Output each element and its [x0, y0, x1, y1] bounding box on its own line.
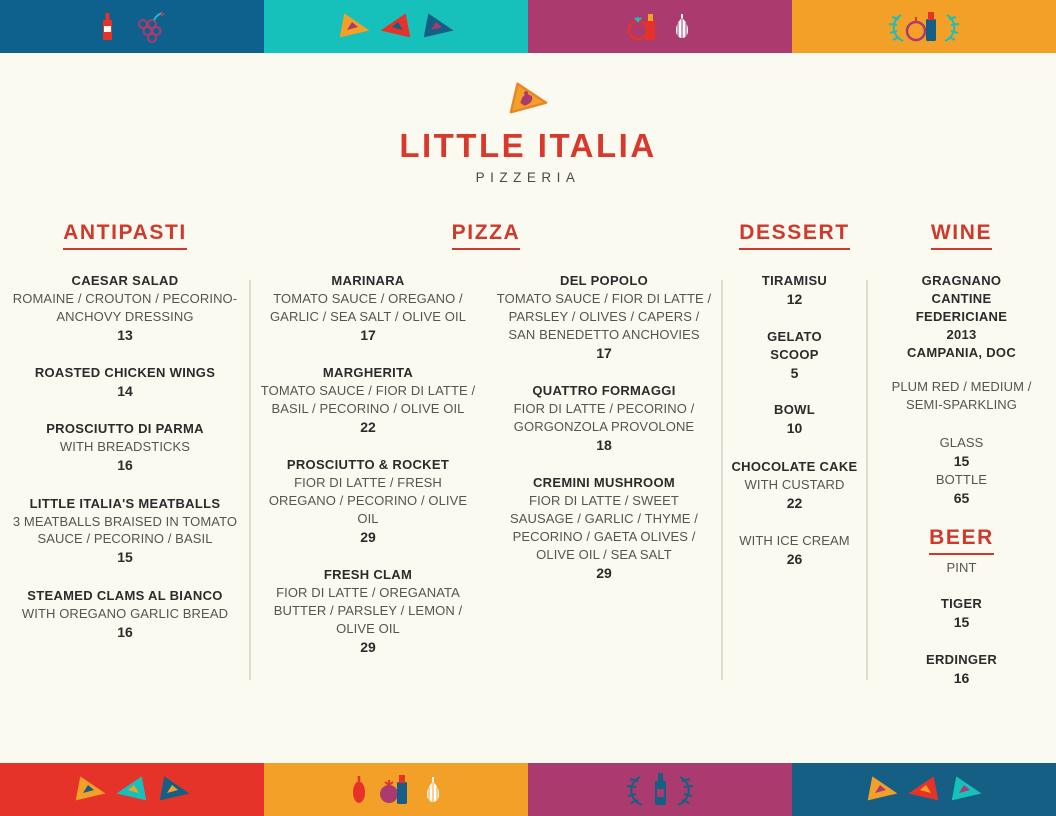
garlic-icon: [421, 772, 445, 808]
item-price: 15: [11, 548, 239, 567]
wine-pricing: GLASS 15 BOTTLE 65: [872, 434, 1052, 509]
wine-description: PLUM RED / MEDIUM / SEMI-SPARKLING: [872, 378, 1052, 414]
item-price: 12: [726, 290, 864, 309]
item-name: CAESAR SALAD: [11, 272, 239, 290]
item-name: TIRAMISU: [726, 272, 864, 290]
section-header-antipasti: ANTIPASTI: [63, 222, 187, 250]
wine-glass-price: 15: [872, 452, 1052, 471]
pizza-slice-icon: [336, 10, 372, 44]
menu-item: WITH ICE CREAM 26: [726, 532, 864, 569]
item-price: 22: [260, 418, 476, 437]
beer-unit-label: PINT: [872, 559, 1052, 577]
item-name: DEL POPOLO: [496, 272, 712, 290]
item-name: LITTLE ITALIA'S MEATBALLS: [11, 495, 239, 513]
item-price: 16: [872, 669, 1052, 688]
tomato-bottle-icon: [377, 772, 415, 808]
pizza-slice-icon: [420, 10, 456, 44]
menu-item: TIGER 15: [872, 595, 1052, 632]
wine-bottle-price: 65: [872, 489, 1052, 508]
pizza-slice-icon: [114, 773, 150, 807]
item-price: 17: [496, 344, 712, 363]
pizza-slice-icon: [378, 10, 414, 44]
pizza-slice-icon: [72, 773, 108, 807]
pizza-slice-icon: [906, 773, 942, 807]
item-name: CREMINI MUSHROOM: [496, 474, 712, 492]
top-decorative-banner: [0, 0, 1056, 53]
item-price: 29: [260, 528, 476, 547]
wine-description-block: PLUM RED / MEDIUM / SEMI-SPARKLING: [872, 378, 1052, 414]
pizza-subcolumn-right: DEL POPOLO TOMATO SAUCE / FIOR DI LATTE …: [486, 222, 722, 752]
menu-item: MARGHERITA TOMATO SAUCE / FIOR DI LATTE …: [260, 364, 476, 437]
item-description: FIOR DI LATTE / PECORINO / GORGONZOLA PR…: [496, 400, 712, 436]
menu-item: ROASTED CHICKEN WINGS 14: [11, 364, 239, 401]
pizza-subcolumn-left: PIZZA MARINARA TOMATO SAUCE / OREGANO / …: [250, 222, 486, 752]
item-price: 29: [260, 638, 476, 657]
top-banner-panel-ingredients: [528, 0, 792, 53]
item-price: 10: [726, 419, 864, 438]
item-price: 15: [872, 613, 1052, 632]
item-variant-label: SCOOP: [726, 346, 864, 364]
wheat-wreath-bottle-icon: [879, 7, 969, 47]
item-name: MARINARA: [260, 272, 476, 290]
grapes-icon: [132, 10, 172, 44]
menu-item: LITTLE ITALIA'S MEATBALLS 3 MEATBALLS BR…: [11, 495, 239, 568]
menu-item: CREMINI MUSHROOM FIOR DI LATTE / SWEET S…: [496, 474, 712, 583]
item-name: GELATO: [726, 328, 864, 346]
bottom-banner-panel-ingredients: [264, 763, 528, 816]
item-price: 29: [496, 564, 712, 583]
menu-column-dessert: DESSERT TIRAMISU 12 GELATO SCOOP 5 BOWL …: [722, 222, 867, 752]
item-description: FIOR DI LATTE / FRESH OREGANO / PECORINO…: [260, 474, 476, 528]
item-description: WITH BREADSTICKS: [11, 438, 239, 456]
item-price: 5: [726, 364, 864, 383]
section-header-wine: WINE: [931, 222, 992, 250]
item-name: PROSCIUTTO & ROCKET: [260, 456, 476, 474]
menu-item: GELATO SCOOP 5: [726, 328, 864, 383]
item-price: 22: [726, 494, 864, 513]
menu-item: DEL POPOLO TOMATO SAUCE / FIOR DI LATTE …: [496, 272, 712, 363]
menu-item: MARINARA TOMATO SAUCE / OREGANO / GARLIC…: [260, 272, 476, 345]
item-price: 16: [11, 623, 239, 642]
wine-name: GRAGNANO CANTINE FEDERICIANE 2013 CAMPAN…: [872, 272, 1052, 362]
item-description: ROMAINE / CROUTON / PECORINO-ANCHOVY DRE…: [11, 290, 239, 326]
item-name: CHOCOLATE CAKE: [726, 458, 864, 476]
item-description: WITH CUSTARD: [726, 476, 864, 494]
menu-grid: ANTIPASTI CAESAR SALAD ROMAINE / CROUTON…: [0, 222, 1056, 752]
section-header-dessert: DESSERT: [739, 222, 849, 250]
brand-logo: LITTLE ITALIA PIZZERIA: [0, 78, 1056, 185]
bottom-decorative-banner: [0, 763, 1056, 816]
menu-item: FRESH CLAM FIOR DI LATTE / OREGANATA BUT…: [260, 566, 476, 657]
item-name: MARGHERITA: [260, 364, 476, 382]
wine-glass-label: GLASS: [872, 434, 1052, 452]
menu-item: BOWL 10: [726, 401, 864, 438]
brand-subtitle: PIZZERIA: [0, 171, 1056, 185]
menu-column-antipasti: ANTIPASTI CAESAR SALAD ROMAINE / CROUTON…: [0, 222, 250, 752]
item-name: TIGER: [872, 595, 1052, 613]
top-banner-panel-wreath: [792, 0, 1056, 53]
item-price: 26: [726, 550, 864, 569]
pizza-slice-icon: [500, 78, 556, 118]
item-name: FRESH CLAM: [260, 566, 476, 584]
wine-entry: GRAGNANO CANTINE FEDERICIANE 2013 CAMPAN…: [872, 272, 1052, 362]
section-header-dessert-wrap: DESSERT: [722, 222, 867, 252]
bottom-banner-panel-pizza-blue: [792, 763, 1056, 816]
item-name: ROASTED CHICKEN WINGS: [11, 364, 239, 382]
item-name: PROSCIUTTO DI PARMA: [11, 420, 239, 438]
top-banner-panel-wine: [0, 0, 264, 53]
menu-item: QUATTRO FORMAGGI FIOR DI LATTE / PECORIN…: [496, 382, 712, 455]
section-header-beer-wrap: BEER: [867, 527, 1056, 555]
item-price: 13: [11, 326, 239, 345]
beer-unit-block: PINT: [872, 559, 1052, 577]
item-description: TOMATO SAUCE / FIOR DI LATTE / BASIL / P…: [260, 382, 476, 418]
section-header-beer: BEER: [929, 527, 994, 555]
wine-bottle-label: BOTTLE: [872, 471, 1052, 489]
item-variant-label: BOWL: [726, 401, 864, 419]
item-description: TOMATO SAUCE / OREGANO / GARLIC / SEA SA…: [260, 290, 476, 326]
brand-title: LITTLE ITALIA: [0, 129, 1056, 162]
item-price: 14: [11, 382, 239, 401]
menu-column-wine: WINE GRAGNANO CANTINE FEDERICIANE 2013 C…: [867, 222, 1056, 752]
menu-item: TIRAMISU 12: [726, 272, 864, 309]
item-price: 16: [11, 456, 239, 475]
item-name: ERDINGER: [872, 651, 1052, 669]
item-name: STEAMED CLAMS AL BIANCO: [11, 587, 239, 605]
item-description: FIOR DI LATTE / SWEET SAUSAGE / GARLIC /…: [496, 492, 712, 564]
top-banner-panel-pizza: [264, 0, 528, 53]
pizza-slice-icon: [948, 773, 984, 807]
wheat-wreath-bottle-icon: [614, 769, 706, 811]
item-price: 17: [260, 326, 476, 345]
item-variant-label: WITH ICE CREAM: [726, 532, 864, 550]
item-description: 3 MEATBALLS BRAISED IN TOMATO SAUCE / PE…: [11, 513, 239, 549]
menu-column-pizza: PIZZA MARINARA TOMATO SAUCE / OREGANO / …: [250, 222, 722, 752]
bottom-banner-panel-pizza-red: [0, 763, 264, 816]
item-description: TOMATO SAUCE / FIOR DI LATTE / PARSLEY /…: [496, 290, 712, 344]
item-price: 18: [496, 436, 712, 455]
bottom-banner-panel-wreath: [528, 763, 792, 816]
wine-bottle-icon: [92, 10, 126, 44]
garlic-icon: [670, 10, 694, 44]
tomato-bottle-icon: [626, 10, 664, 44]
item-name: QUATTRO FORMAGGI: [496, 382, 712, 400]
menu-item: PROSCIUTTO DI PARMA WITH BREADSTICKS 16: [11, 420, 239, 475]
menu-item: CAESAR SALAD ROMAINE / CROUTON / PECORIN…: [11, 272, 239, 345]
item-description: FIOR DI LATTE / OREGANATA BUTTER / PARSL…: [260, 584, 476, 638]
menu-item: CHOCOLATE CAKE WITH CUSTARD 22: [726, 458, 864, 513]
item-description: WITH OREGANO GARLIC BREAD: [11, 605, 239, 623]
pizza-header-spacer: [486, 222, 722, 252]
pizza-slice-icon: [156, 773, 192, 807]
menu-item: PROSCIUTTO & ROCKET FIOR DI LATTE / FRES…: [260, 456, 476, 547]
section-header-antipasti-wrap: ANTIPASTI: [0, 222, 250, 252]
pepper-icon: [347, 772, 371, 808]
section-header-wine-wrap: WINE: [867, 222, 1056, 252]
pizza-slice-icon: [864, 773, 900, 807]
menu-item: STEAMED CLAMS AL BIANCO WITH OREGANO GAR…: [11, 587, 239, 642]
menu-item: ERDINGER 16: [872, 651, 1052, 688]
